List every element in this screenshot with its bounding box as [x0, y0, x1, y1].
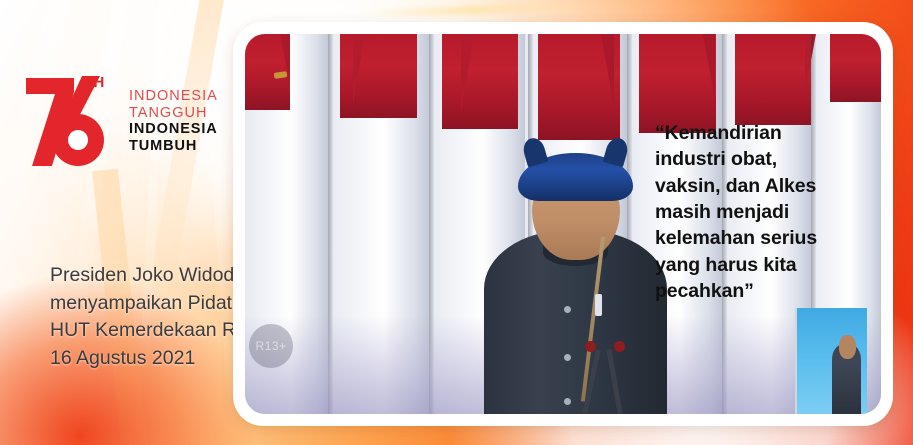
cap-horn-right — [603, 136, 631, 167]
microphone-head-left — [585, 341, 596, 352]
shirt-button — [564, 354, 571, 361]
logo-tagline-red-line-1: INDONESIA — [129, 88, 218, 105]
logo-tagline-black-line-2: TUMBUH — [129, 138, 218, 155]
speech-photo: R13+ “Kemandirian industri obat, vaksin,… — [245, 34, 881, 414]
logo-ordinal-suffix: TH — [84, 75, 105, 90]
lapel-pin — [595, 294, 602, 316]
quote-line-7: pecahkan” — [655, 278, 867, 304]
quote-block: “Kemandirian industri obat, vaksin, dan … — [655, 120, 867, 304]
microphone-head-right — [614, 341, 625, 352]
flag-red-point — [461, 34, 474, 112]
flag-red-point — [601, 34, 614, 108]
photo-watermark: R13+ — [249, 324, 293, 368]
quote-line-6: yang harus kita — [655, 252, 867, 278]
president-figure — [480, 118, 671, 414]
flag-red-top — [340, 34, 416, 118]
logo-tagline: INDONESIA TANGGUH INDONESIA TUMBUH — [129, 88, 218, 154]
logo-tagline-red-line-2: TANGGUH — [129, 105, 218, 122]
slide-canvas: TH INDONESIA TANGGUH INDONESIA TUMBUH Pr… — [0, 0, 913, 445]
quote-line-4: masih menjadi — [655, 199, 867, 225]
monitor-person-head — [839, 335, 856, 358]
quote-line-1: “Kemandirian — [655, 120, 867, 146]
anniversary-logo: TH INDONESIA TANGGUH INDONESIA TUMBUH — [22, 72, 227, 172]
flag-red-point — [353, 34, 365, 104]
quote-line-2: industri obat, — [655, 146, 867, 172]
blue-monitor — [795, 308, 867, 414]
flag-red-top — [442, 34, 518, 129]
quote-line-5: kelemahan serius — [655, 225, 867, 251]
quote-line-3: vaksin, dan Alkes — [655, 173, 867, 199]
flag-red-top — [735, 34, 811, 125]
flag-red-point — [703, 34, 715, 100]
flag-red-top — [830, 34, 881, 102]
photo-card: R13+ “Kemandirian industri obat, vaksin,… — [233, 22, 893, 426]
logo-tagline-black-line-1: INDONESIA — [129, 121, 218, 138]
